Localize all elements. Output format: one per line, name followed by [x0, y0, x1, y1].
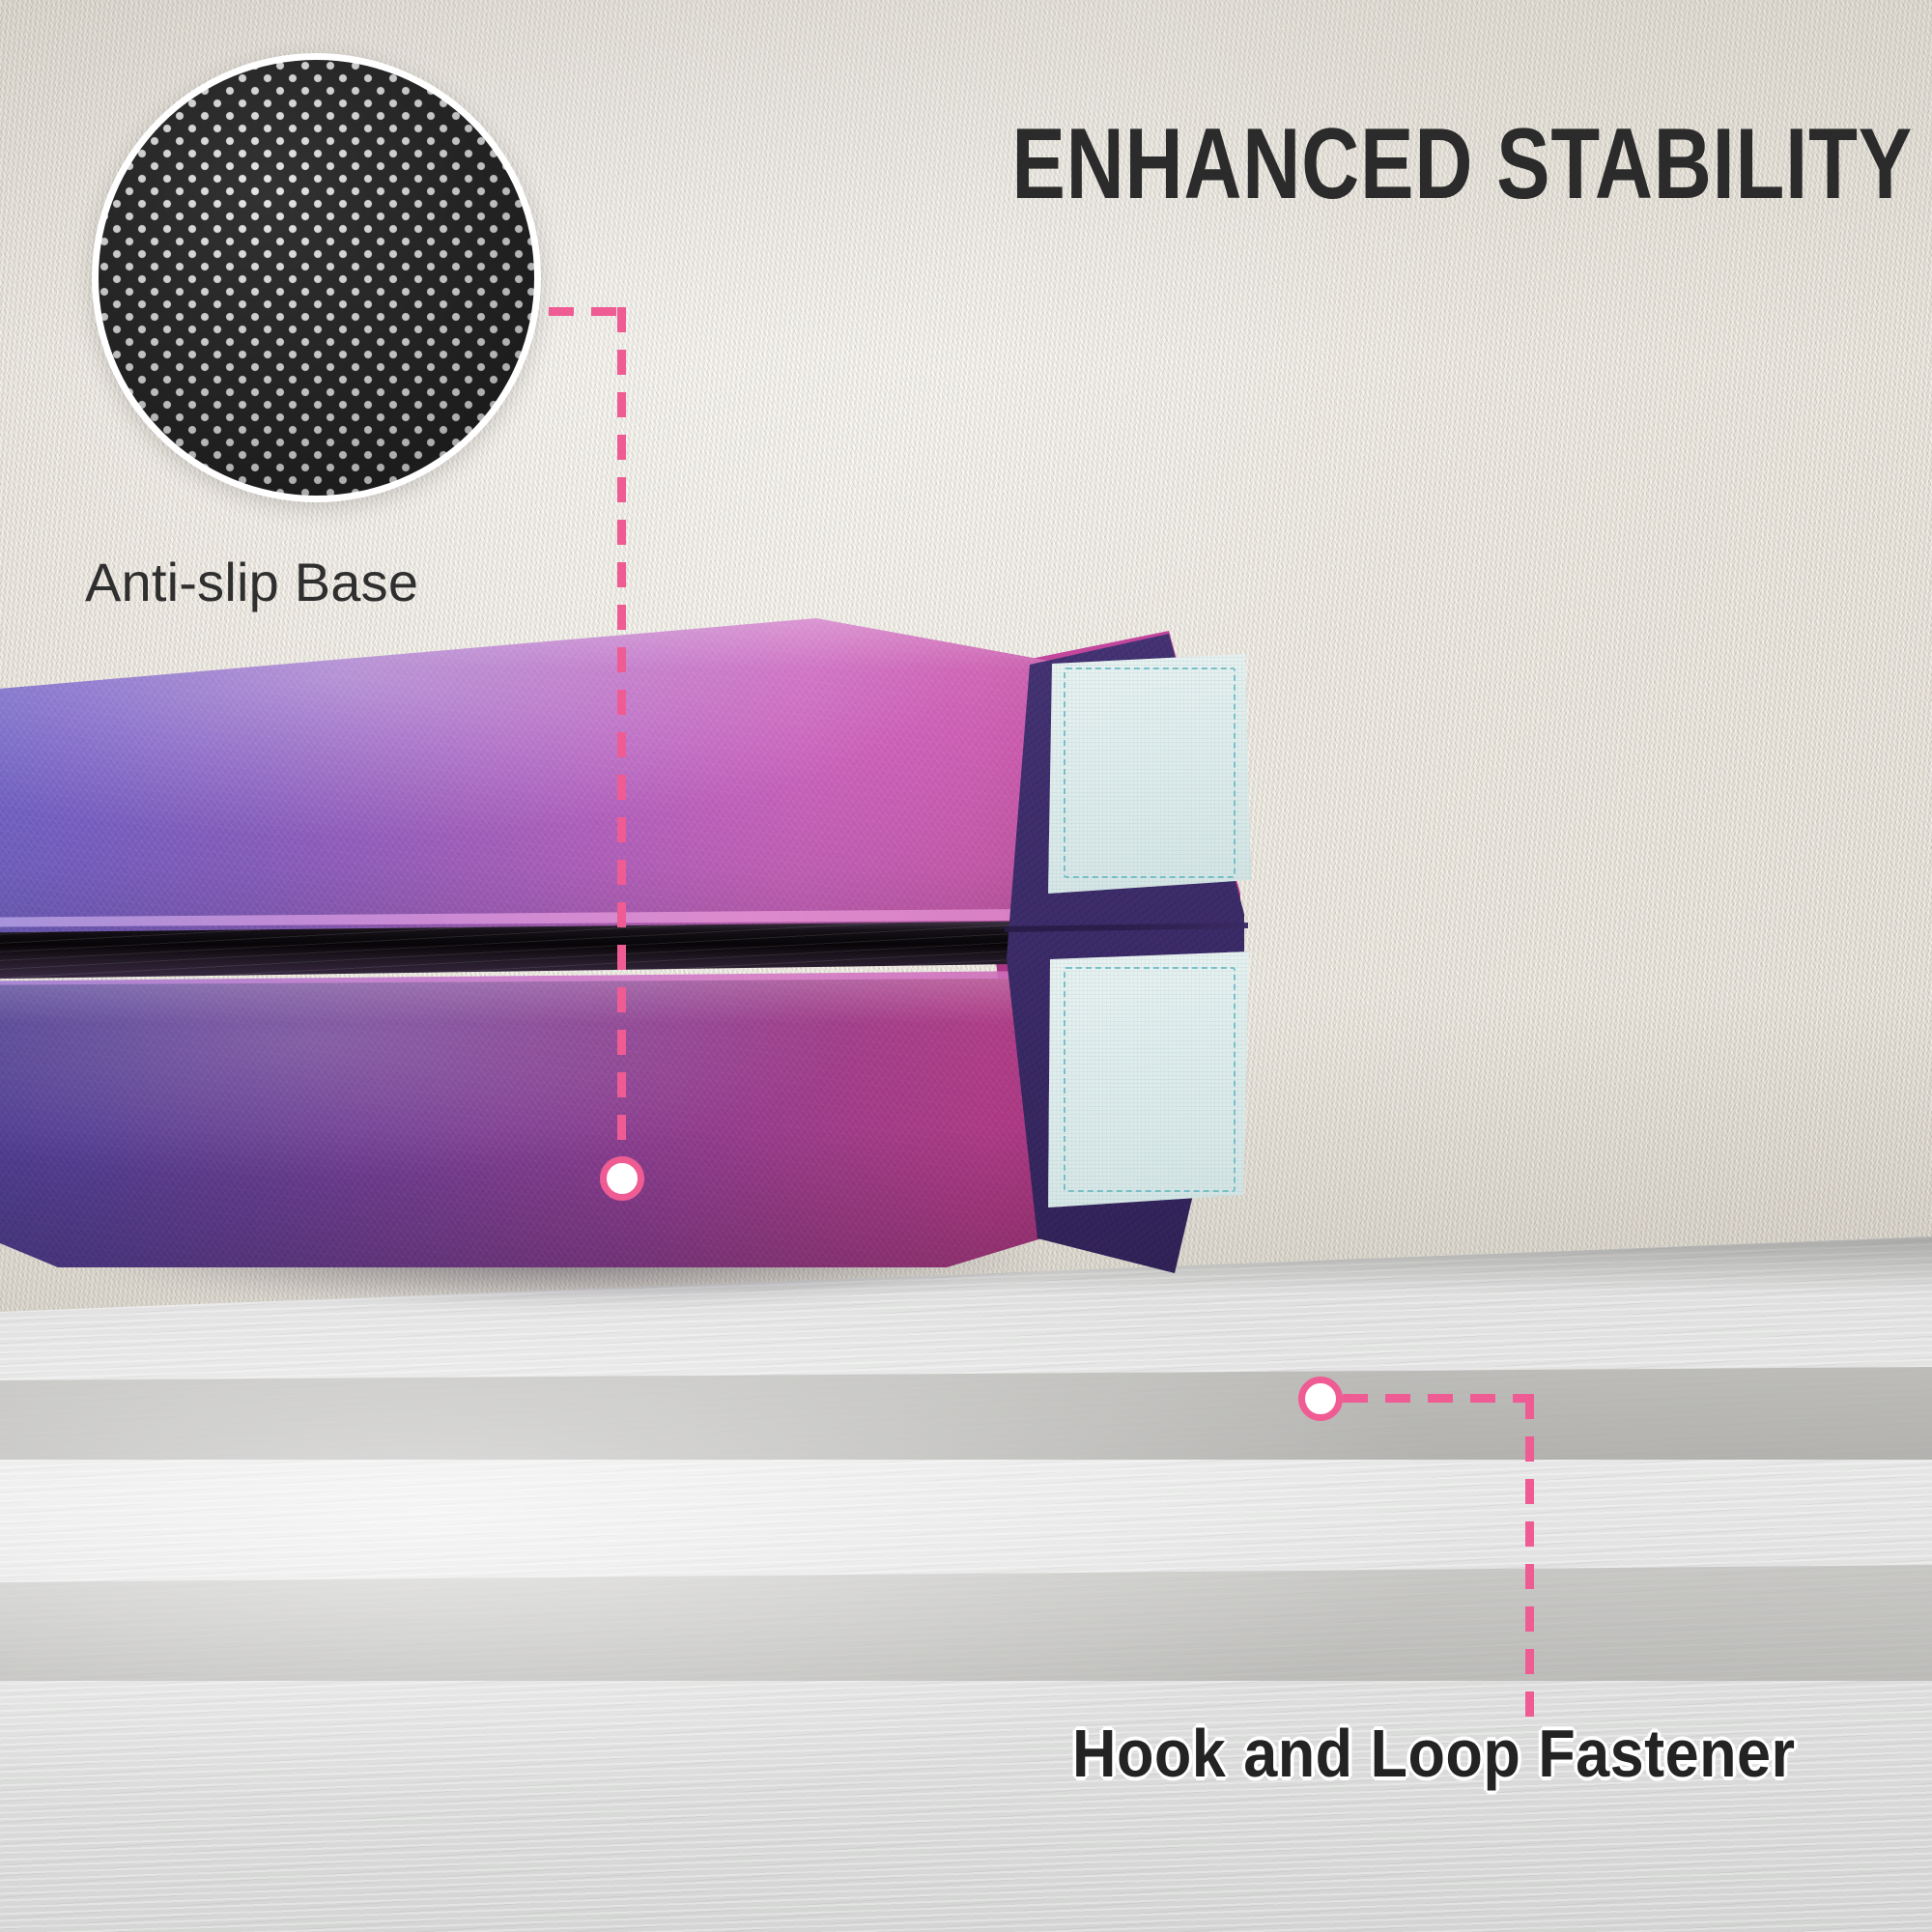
floor-sheen [0, 1236, 1932, 1932]
page-title: ENHANCED STABILITY [877, 114, 1913, 214]
callout-label-antislip: Anti-slip Base [85, 551, 418, 613]
callout-line-hook-vertical [1525, 1394, 1534, 1727]
infographic-scene: ENHANCED STABILITY Anti-slip Base Hook a… [0, 0, 1932, 1932]
mat-bottom-panel [0, 978, 1150, 1306]
callout-line-antislip-horizontal [549, 307, 626, 316]
velcro-stitch-outline [1064, 668, 1236, 878]
callout-marker-hook-and-loop [1298, 1377, 1343, 1421]
callout-line-antislip-vertical [617, 307, 626, 1181]
callout-label-hook-and-loop: Hook and Loop Fastener [1072, 1715, 1795, 1792]
velcro-patch-upper [1048, 652, 1251, 894]
callout-line-hook-horizontal [1343, 1394, 1534, 1403]
anti-slip-swatch-circle [92, 53, 541, 502]
velcro-patch-lower [1048, 952, 1251, 1207]
velcro-stitch-outline [1064, 967, 1236, 1192]
swatch-dotted-texture [99, 60, 534, 496]
background-floor [0, 1236, 1932, 1932]
callout-marker-antislip [600, 1156, 644, 1201]
mat-bottom-sheen [0, 978, 1150, 1306]
